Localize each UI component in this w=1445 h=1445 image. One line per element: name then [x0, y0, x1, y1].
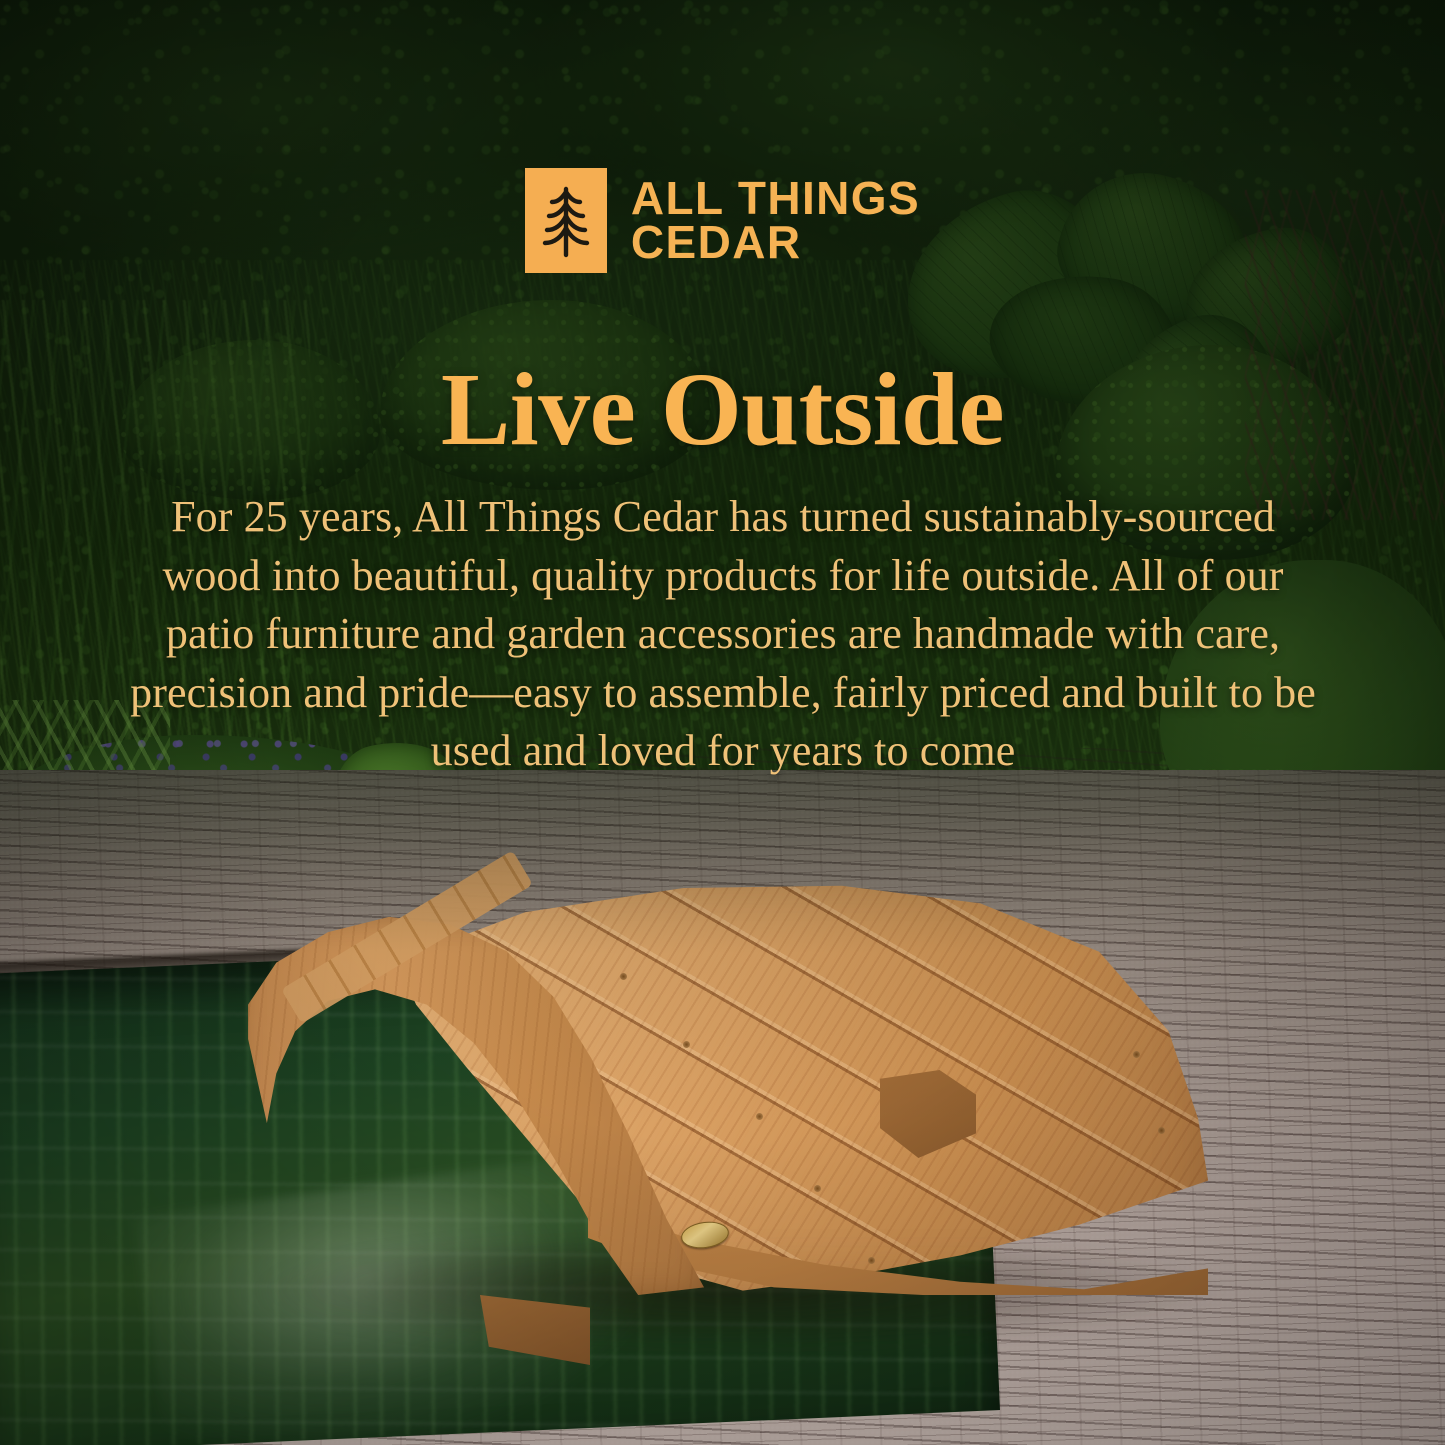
pine-tree-icon: [525, 168, 607, 273]
hero-description: For 25 years, All Things Cedar has turne…: [118, 488, 1328, 781]
brand-logo-lockup[interactable]: ALL THINGS CEDAR: [0, 168, 1445, 273]
poster-content: ALL THINGS CEDAR Live Outside For 25 yea…: [0, 0, 1445, 1445]
page-title: Live Outside: [0, 358, 1445, 462]
brand-name-line1: ALL THINGS: [631, 177, 920, 220]
marketing-poster: ALL THINGS CEDAR Live Outside For 25 yea…: [0, 0, 1445, 1445]
hero-description-text: For 25 years, All Things Cedar has turne…: [118, 488, 1328, 781]
brand-wordmark: ALL THINGS CEDAR: [631, 177, 920, 263]
brand-name-line2: CEDAR: [631, 221, 920, 264]
